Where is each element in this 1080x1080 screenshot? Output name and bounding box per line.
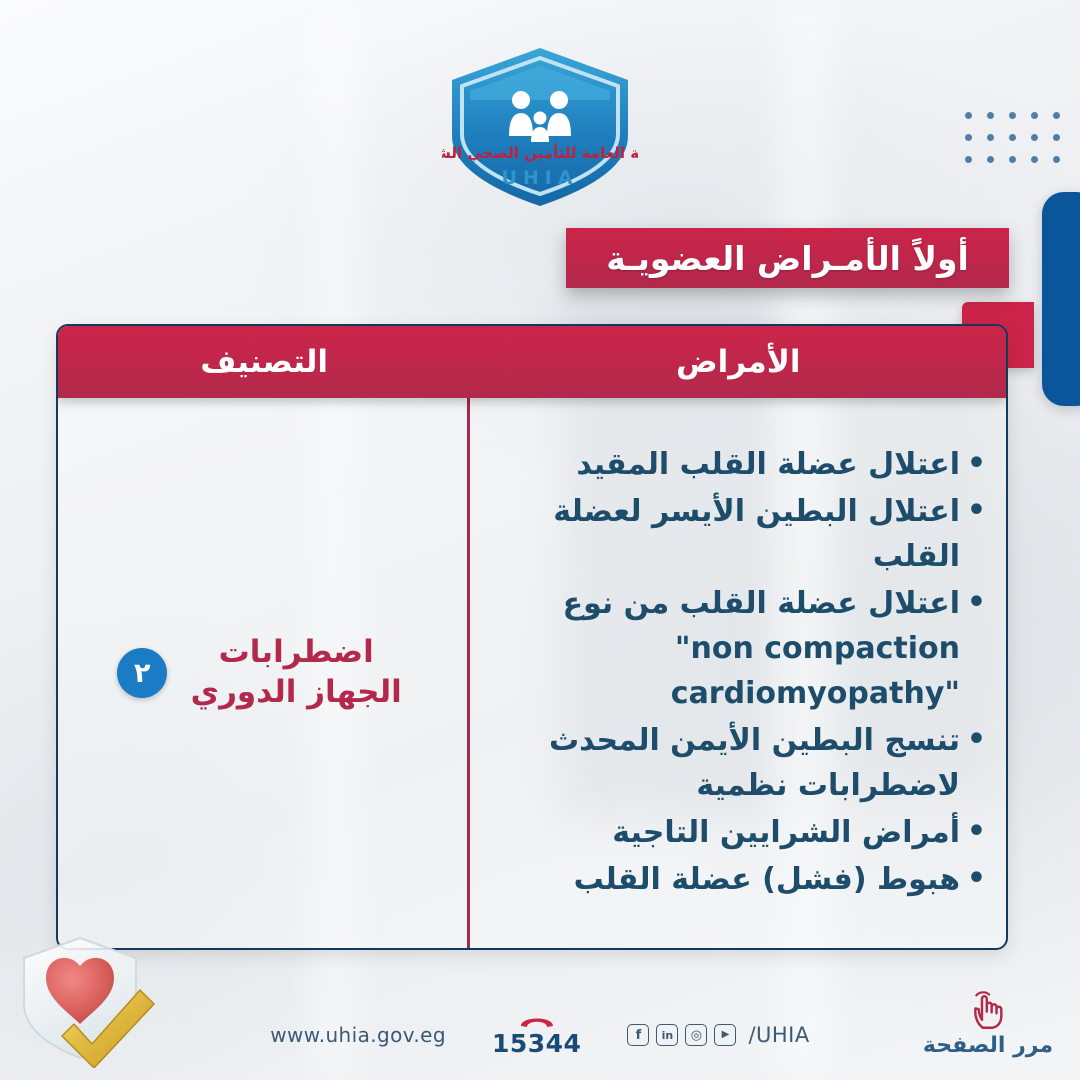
linkedin-icon[interactable]: in bbox=[656, 1024, 678, 1046]
facebook-icon[interactable]: f bbox=[627, 1024, 649, 1046]
disease-latin-term: "non compaction cardiomyopathy" bbox=[671, 631, 960, 711]
edge-accent-bar bbox=[1042, 192, 1080, 406]
website-url[interactable]: www.uhia.gov.eg bbox=[270, 1023, 446, 1047]
hotline-group[interactable]: 15344 bbox=[492, 1012, 581, 1058]
diseases-table: الأمراض التصنيف اعتلال عضلة القلب المقيد… bbox=[56, 324, 1008, 950]
section-title-text: أولاً الأمـراض العضويـة bbox=[606, 239, 969, 278]
table-header-diseases: الأمراض bbox=[470, 326, 1006, 398]
infographic-canvas: الهيئة العامة للتأمين الصحي الشامل UHIA … bbox=[0, 0, 1080, 1080]
logo-container: الهيئة العامة للتأمين الصحي الشامل UHIA bbox=[0, 44, 1080, 210]
disease-list-item: أمراض الشرايين التاجية bbox=[476, 810, 990, 855]
disease-list-item: تنسج البطين الأيمن المحدث لاضطرابات نظمي… bbox=[476, 718, 990, 808]
uhia-logo: الهيئة العامة للتأمين الصحي الشامل UHIA bbox=[442, 44, 638, 210]
table-header-diseases-label: الأمراض bbox=[676, 344, 801, 380]
table-body: اعتلال عضلة القلب المقيداعتلال البطين ال… bbox=[58, 398, 1006, 948]
social-links: f in ◎ ▶ /UHIA bbox=[627, 1023, 809, 1047]
hotline-number: 15344 bbox=[492, 1029, 581, 1058]
classification-label: اضطرابات الجهاز الدوري bbox=[181, 633, 411, 712]
table-header-classification: التصنيف bbox=[58, 326, 470, 398]
instagram-icon[interactable]: ◎ bbox=[685, 1024, 707, 1046]
table-cell-diseases: اعتلال عضلة القلب المقيداعتلال البطين ال… bbox=[470, 398, 1006, 948]
column-divider bbox=[467, 398, 470, 948]
table-header-classification-label: التصنيف bbox=[200, 344, 328, 380]
table-header-row: الأمراض التصنيف bbox=[58, 326, 1006, 398]
svg-text:الهيئة العامة للتأمين الصحي ال: الهيئة العامة للتأمين الصحي الشامل bbox=[442, 143, 638, 162]
diseases-list: اعتلال عضلة القلب المقيداعتلال البطين ال… bbox=[476, 442, 990, 904]
disease-list-item: اعتلال عضلة القلب من نوع "non compaction… bbox=[476, 581, 990, 716]
social-handle[interactable]: /UHIA bbox=[748, 1023, 809, 1047]
swipe-hint-label: مرر الصفحة bbox=[918, 1033, 1058, 1058]
disease-list-item: اعتلال البطين الأيسر لعضلة القلب bbox=[476, 489, 990, 579]
classification-group: اضطرابات الجهاز الدوري ٢ bbox=[117, 633, 411, 712]
swipe-hint[interactable]: مرر الصفحة bbox=[918, 989, 1058, 1058]
swipe-hand-icon bbox=[918, 989, 1058, 1031]
section-title-banner: أولاً الأمـراض العضويـة bbox=[566, 228, 1009, 288]
disease-list-item: هبوط (فشل) عضلة القلب bbox=[476, 857, 990, 902]
youtube-icon[interactable]: ▶ bbox=[714, 1024, 736, 1046]
svg-text:UHIA: UHIA bbox=[501, 167, 578, 189]
table-cell-classification: اضطرابات الجهاز الدوري ٢ bbox=[58, 398, 470, 948]
disease-list-item: اعتلال عضلة القلب المقيد bbox=[476, 442, 990, 487]
row-number-badge: ٢ bbox=[117, 648, 167, 698]
